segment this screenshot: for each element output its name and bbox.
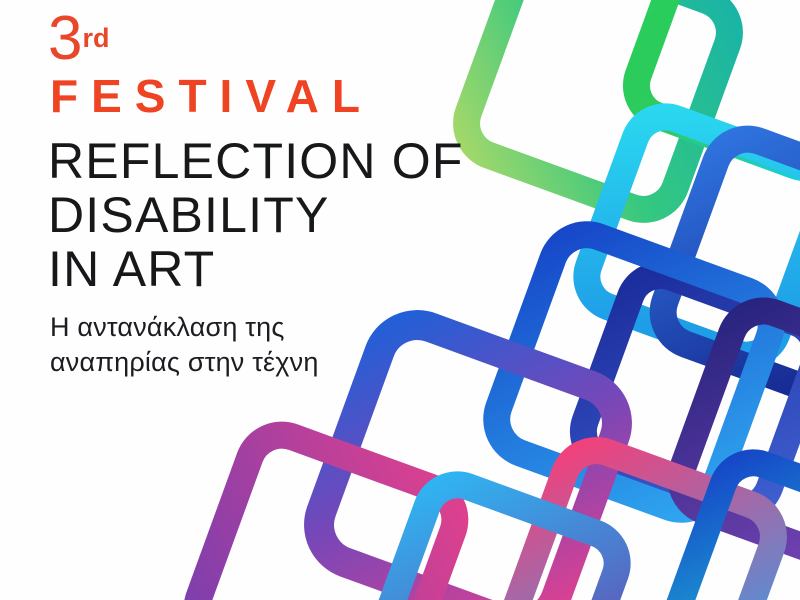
ordinal-suffix: rd: [82, 23, 109, 53]
square-turquoise-bottomright: [666, 454, 800, 600]
festival-label: FESTIVAL: [50, 72, 568, 120]
square-navy-right: [574, 266, 800, 517]
title-line-1: REFLECTION OF: [48, 134, 568, 188]
square-magenta-left: [188, 426, 465, 600]
festival-poster: 3rd FESTIVAL REFLECTION OF DISABILITY IN…: [0, 0, 800, 600]
square-cyan-mid: [578, 108, 800, 364]
square-blue-right: [654, 130, 800, 407]
subtitle-line-2: αναπηρίας στην τέχνη: [50, 345, 568, 380]
square-sky-lowerleft: [370, 476, 626, 600]
square-indigo-right: [671, 301, 800, 570]
page-title: REFLECTION OF DISABILITY IN ART: [48, 134, 568, 296]
title-line-2: DISABILITY: [48, 188, 568, 242]
ordinal-heading: 3rd: [48, 8, 568, 70]
square-green-topright: [627, 0, 800, 177]
title-line-3: IN ART: [48, 242, 568, 296]
square-pink-bottom: [501, 441, 783, 600]
subtitle-greek: Η αντανάκλαση της αναπηρίας στην τέχνη: [50, 310, 568, 379]
ordinal-number: 3: [48, 4, 81, 73]
subtitle-line-1: Η αντανάκλαση της: [50, 310, 568, 345]
poster-text-block: 3rd FESTIVAL REFLECTION OF DISABILITY IN…: [48, 8, 568, 379]
